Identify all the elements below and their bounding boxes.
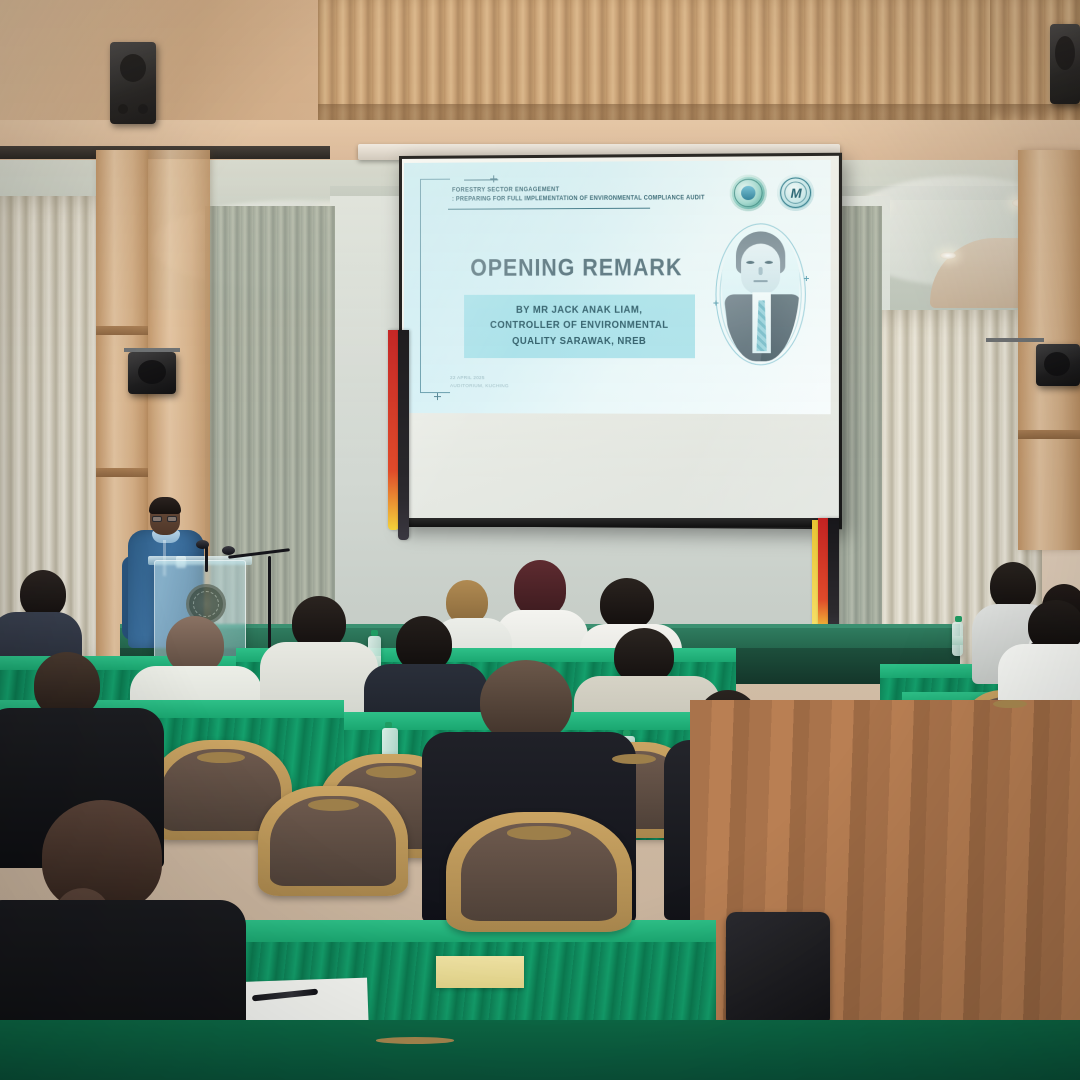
slide-header-rule — [448, 208, 650, 210]
backpack — [726, 912, 830, 1024]
slide-subtitle-line3: QUALITY SARAWAK, NREB — [481, 334, 678, 350]
monogram-logo-label: M — [777, 174, 814, 211]
microphone-head-2 — [222, 546, 235, 555]
floor-front-strip — [0, 1020, 1080, 1080]
yellow-notepad — [436, 956, 524, 988]
column-band-1 — [96, 326, 148, 335]
flag-black-left — [398, 330, 409, 540]
slide-header-line2: : PREPARING FOR FULL IMPLEMENTATION OF E… — [452, 194, 689, 202]
speaker-portrait-illustration — [713, 223, 812, 375]
slide-subtitle-line1: BY MR JACK ANAK LIAM, — [481, 303, 678, 319]
wall-speaker-top-left — [110, 42, 156, 124]
slide-footer-line1: 22 APRIL 2025 — [450, 375, 632, 380]
slide-header-tick-line — [464, 179, 498, 180]
chair-foreground-1[interactable] — [258, 786, 408, 896]
column-band-2 — [96, 468, 148, 477]
microphone-stem-1 — [205, 546, 208, 572]
monogram-logo: M — [777, 174, 814, 211]
wall-speaker-left — [128, 352, 176, 394]
slide-header: FORESTRY SECTOR ENGAGEMENT : PREPARING F… — [452, 185, 715, 203]
projection-screen: FORESTRY SECTOR ENGAGEMENT : PREPARING F… — [399, 153, 842, 530]
slide-footer: 22 APRIL 2025 AUDITORIUM, KUCHING — [450, 375, 632, 388]
speaker-bracket-left — [124, 348, 180, 352]
speaker-hair — [149, 497, 181, 514]
chair-foreground-2[interactable] — [446, 812, 632, 932]
water-bottle-2 — [952, 622, 963, 656]
column-band-3 — [1018, 430, 1080, 439]
ceiling-light-4 — [940, 252, 956, 259]
slide-header-line1: FORESTRY SECTOR ENGAGEMENT — [452, 185, 694, 194]
slide-tick-bottom — [434, 393, 441, 400]
projection-screen-bottom-bar — [399, 518, 835, 527]
wall-speaker-right — [1036, 344, 1080, 386]
nreb-logo — [730, 175, 767, 212]
conference-hall-photo: FORESTRY SECTOR ENGAGEMENT : PREPARING F… — [0, 0, 1080, 1080]
speaker-bracket-right — [986, 338, 1044, 342]
presentation-slide: FORESTRY SECTOR ENGAGEMENT : PREPARING F… — [404, 160, 831, 414]
portrait-tick-right — [804, 276, 809, 281]
portrait-tick-left — [713, 300, 718, 305]
slide-title: OPENING REMARK — [465, 254, 688, 283]
speaker-glasses — [152, 516, 178, 522]
curtain-stage-right — [836, 206, 882, 626]
wall-speaker-top-right — [1050, 24, 1080, 104]
slide-subtitle-line2: CONTROLLER OF ENVIRONMENTAL — [481, 318, 678, 334]
slide-subtitle-box: BY MR JACK ANAK LIAM, CONTROLLER OF ENVI… — [464, 294, 695, 358]
slide-corner-frame — [420, 179, 450, 393]
flag-black-right — [828, 518, 839, 636]
slide-footer-line2: AUDITORIUM, KUCHING — [450, 383, 632, 388]
microphone-head-1 — [196, 540, 209, 549]
